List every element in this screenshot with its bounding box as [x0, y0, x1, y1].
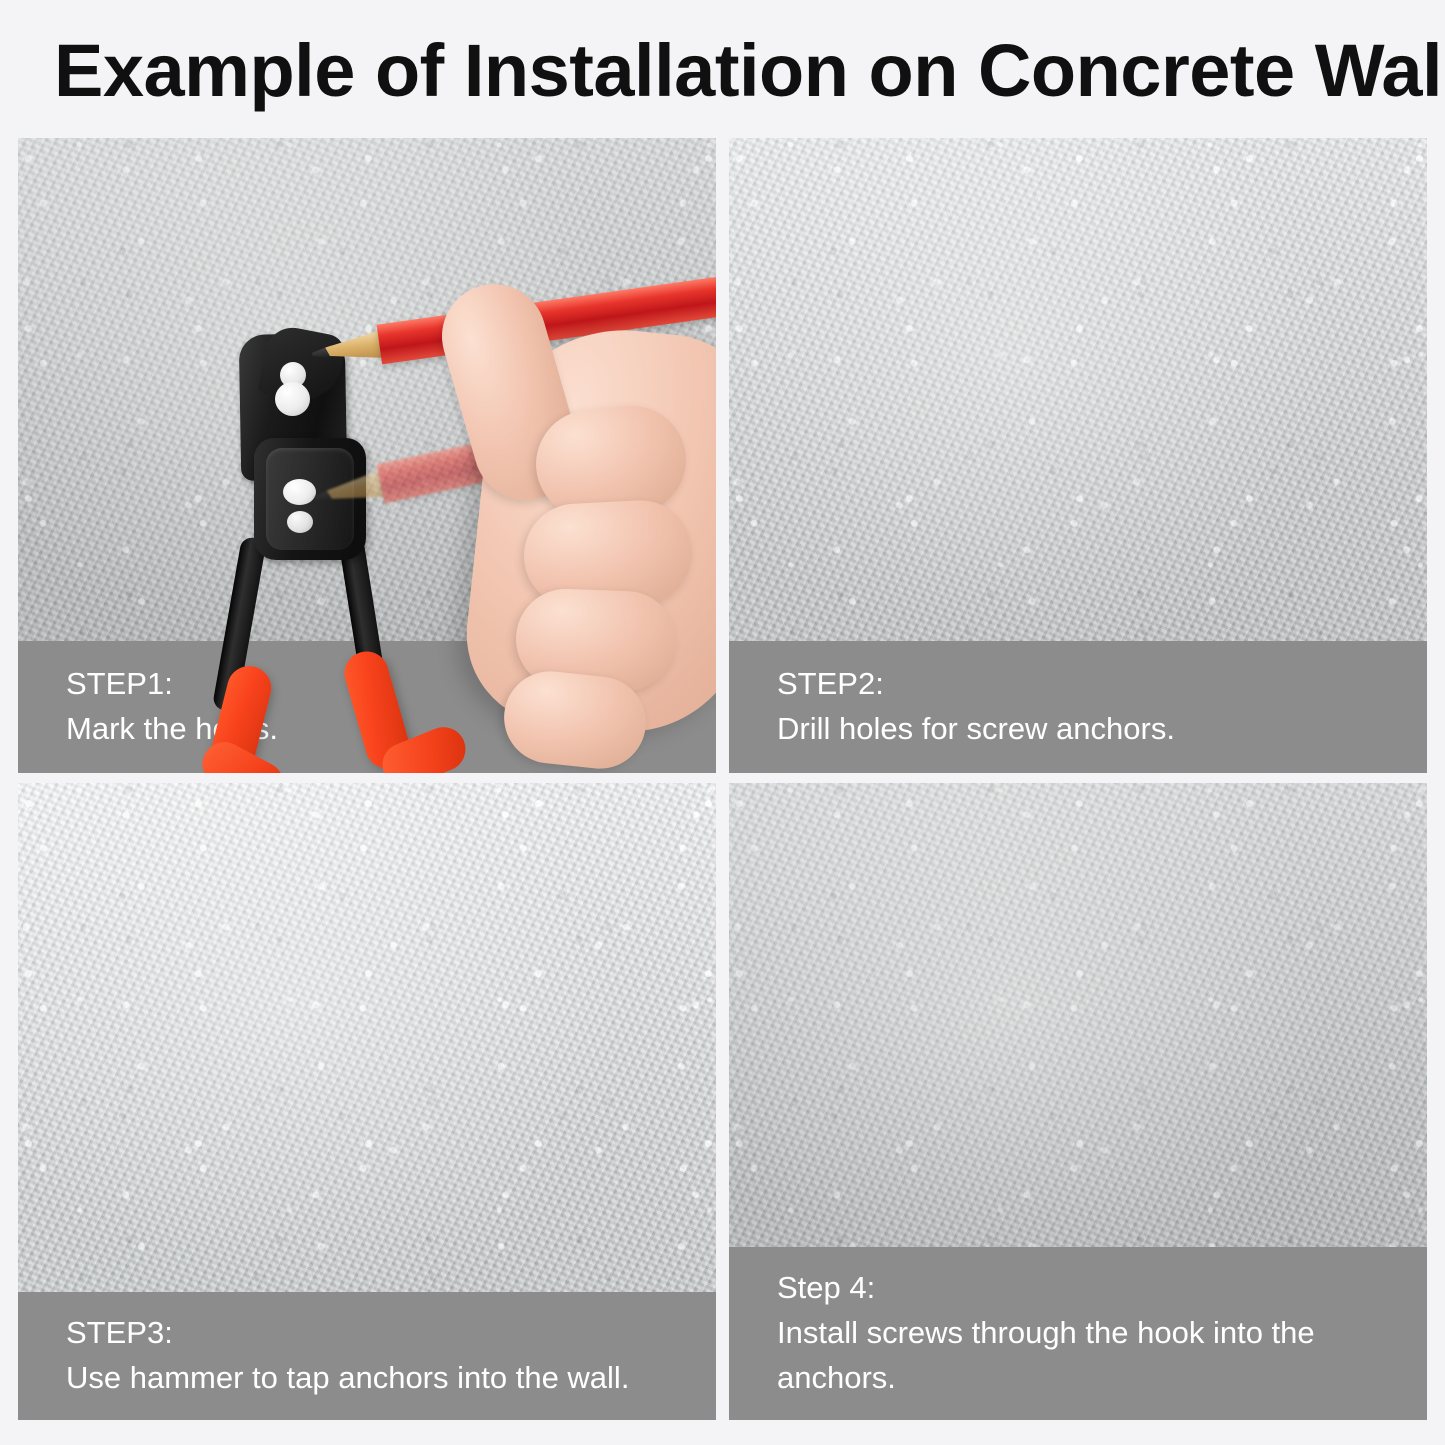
- pencil-wood: [324, 330, 385, 366]
- step-4-label: Step 4:: [777, 1265, 1381, 1310]
- installation-guide-page: Example of Installation on Concrete Wall: [0, 0, 1445, 1445]
- step-panel-3: STEP3: Use hammer to tap anchors into th…: [18, 783, 716, 1420]
- mounting-hole-upper: [275, 382, 310, 416]
- step-panel-2: 13 11 9: [729, 138, 1427, 773]
- step-panel-1: STEP1: Mark the holes.: [18, 138, 716, 773]
- step-2-caption: STEP2: Drill holes for screw anchors.: [729, 641, 1427, 773]
- step-2-text: Drill holes for screw anchors.: [777, 706, 1381, 751]
- step-panel-4: Step 4: Install screws through the hook …: [729, 783, 1427, 1420]
- step-4-caption: Step 4: Install screws through the hook …: [729, 1247, 1427, 1420]
- step-3-text: Use hammer to tap anchors into the wall.: [66, 1355, 670, 1400]
- step-4-text: Install screws through the hook into the…: [777, 1310, 1381, 1400]
- page-title: Example of Installation on Concrete Wall: [54, 28, 1404, 114]
- steps-grid: STEP1: Mark the holes. 13 11 9: [18, 138, 1427, 1420]
- hand: [420, 290, 716, 760]
- step-3-label: STEP3:: [66, 1310, 670, 1355]
- step-3-caption: STEP3: Use hammer to tap anchors into th…: [18, 1292, 716, 1420]
- mounting-hole-lower: [287, 511, 313, 533]
- step-2-label: STEP2:: [777, 661, 1381, 706]
